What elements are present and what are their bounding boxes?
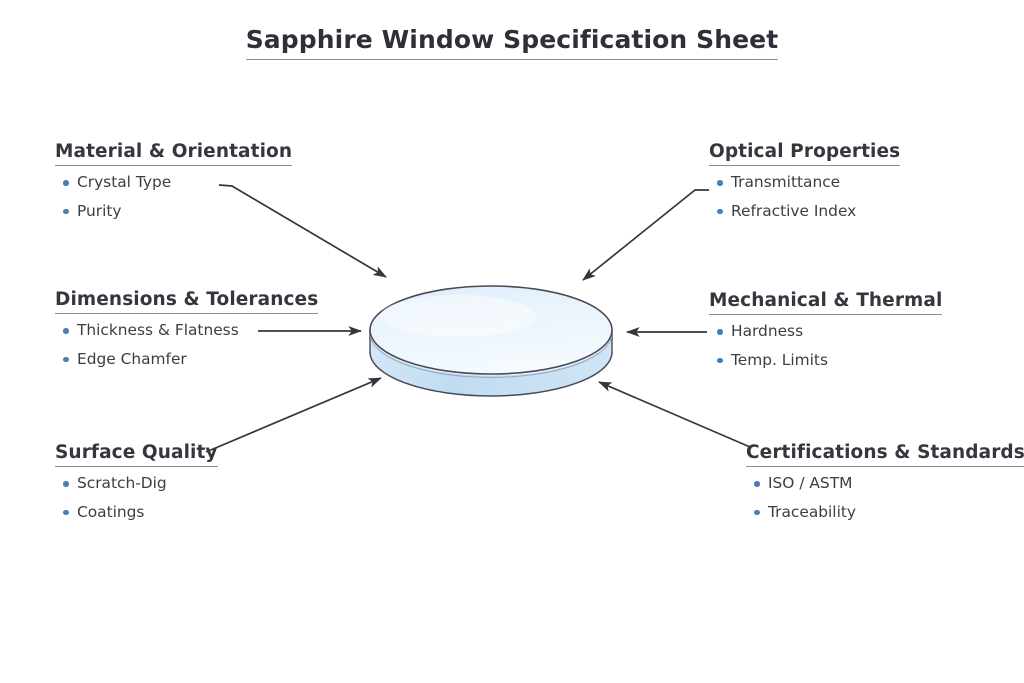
list-item: Hardness	[731, 324, 942, 339]
bullet-list-optical-properties: Transmittance Refractive Index	[709, 175, 900, 219]
bullet-dot-icon	[63, 328, 69, 334]
section-optical-properties: Optical Properties Transmittance Refract…	[709, 141, 900, 232]
bullet-list-certifications-standards: ISO / ASTM Traceability	[746, 476, 1024, 520]
section-mechanical-thermal: Mechanical & Thermal Hardness Temp. Limi…	[709, 290, 942, 381]
bullet-label: Traceability	[768, 503, 856, 521]
bullet-dot-icon	[63, 180, 69, 186]
arrow-certifications-to-disc	[599, 382, 750, 447]
section-certifications-standards: Certifications & Standards ISO / ASTM Tr…	[746, 442, 1024, 533]
bullet-label: Coatings	[77, 503, 144, 521]
list-item: Temp. Limits	[731, 353, 942, 368]
bullet-dot-icon	[717, 180, 723, 186]
bullet-dot-icon	[63, 209, 69, 215]
bullet-dot-icon	[63, 481, 69, 487]
bullet-label: Transmittance	[731, 173, 840, 191]
bullet-dot-icon	[717, 209, 723, 215]
bullet-dot-icon	[717, 329, 723, 335]
list-item: Transmittance	[731, 175, 900, 190]
bullet-label: Scratch-Dig	[77, 474, 167, 492]
bullet-label: Temp. Limits	[731, 351, 828, 369]
bullet-label: Refractive Index	[731, 202, 856, 220]
section-surface-quality: Surface Quality Scratch-Dig Coatings	[55, 442, 218, 533]
bullet-dot-icon	[754, 510, 760, 516]
bullet-label: Hardness	[731, 322, 803, 340]
disc-specular-highlight	[380, 295, 536, 337]
list-item: Edge Chamfer	[77, 352, 318, 367]
list-item: Thickness & Flatness	[77, 323, 318, 338]
page-title-wrap: Sapphire Window Specification Sheet	[0, 26, 1024, 60]
page-title: Sapphire Window Specification Sheet	[246, 26, 779, 60]
bullet-list-material: Crystal Type Purity	[55, 175, 292, 219]
list-item: Crystal Type	[77, 175, 292, 190]
section-heading-material: Material & Orientation	[55, 141, 292, 166]
diagram-canvas: Sapphire Window Specification Sheet	[0, 0, 1024, 683]
bullet-dot-icon	[63, 510, 69, 516]
section-heading-optical-properties: Optical Properties	[709, 141, 900, 166]
section-heading-certifications-standards: Certifications & Standards	[746, 442, 1024, 467]
list-item: Coatings	[77, 505, 218, 520]
list-item: Scratch-Dig	[77, 476, 218, 491]
bullet-label: Crystal Type	[77, 173, 171, 191]
bullet-label: ISO / ASTM	[768, 474, 852, 492]
section-heading-surface-quality: Surface Quality	[55, 442, 218, 467]
bullet-label: Edge Chamfer	[77, 350, 187, 368]
list-item: Purity	[77, 204, 292, 219]
section-heading-dimensions: Dimensions & Tolerances	[55, 289, 318, 314]
disc-top-face	[370, 286, 612, 374]
section-dimensions: Dimensions & Tolerances Thickness & Flat…	[55, 289, 318, 380]
disc-edge-band	[370, 330, 612, 396]
list-item: Refractive Index	[731, 204, 900, 219]
bullet-list-dimensions: Thickness & Flatness Edge Chamfer	[55, 323, 318, 367]
bullet-list-mechanical-thermal: Hardness Temp. Limits	[709, 324, 942, 368]
bullet-dot-icon	[717, 358, 723, 364]
list-item: ISO / ASTM	[768, 476, 1024, 491]
bullet-dot-icon	[754, 481, 760, 487]
list-item: Traceability	[768, 505, 1024, 520]
arrow-surface-to-disc	[206, 378, 381, 452]
bullet-dot-icon	[63, 357, 69, 363]
section-material: Material & Orientation Crystal Type Puri…	[55, 141, 292, 232]
bullet-label: Purity	[77, 202, 122, 220]
arrow-optical-to-disc	[583, 190, 709, 280]
bullet-label: Thickness & Flatness	[77, 321, 239, 339]
bullet-list-surface-quality: Scratch-Dig Coatings	[55, 476, 218, 520]
section-heading-mechanical-thermal: Mechanical & Thermal	[709, 290, 942, 315]
